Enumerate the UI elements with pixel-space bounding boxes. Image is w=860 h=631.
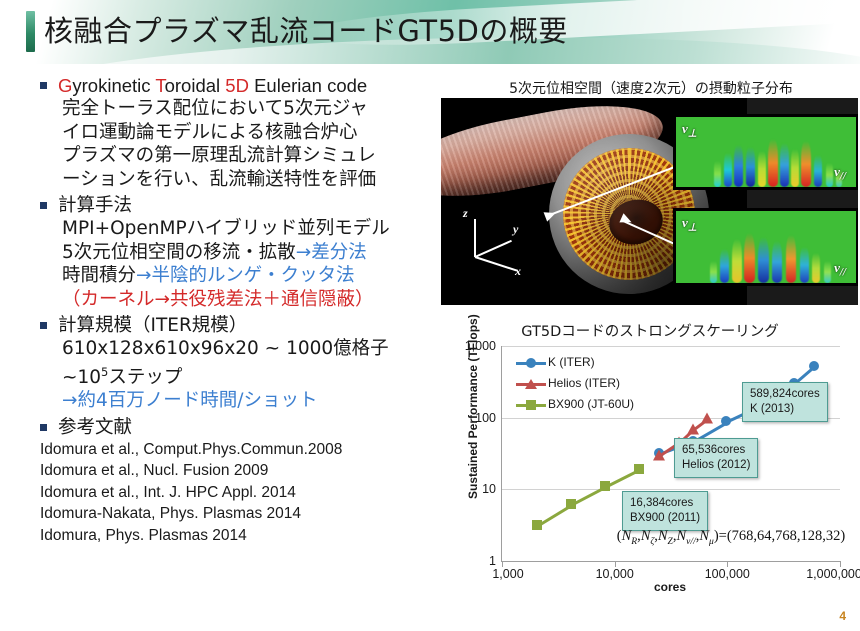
bullet-line: →約4百万ノード時間/ショット: [16, 389, 436, 413]
legend-label-helios: Helios (ITER): [548, 376, 620, 390]
inset-panel-upper: v⊥ v//: [673, 114, 858, 190]
chart-x-tick: 100,000: [705, 567, 750, 581]
bullet-line: 5次元位相空間の移流・拡散→差分法: [16, 241, 436, 265]
legend-marker-circle-icon: [526, 358, 536, 368]
bullet-block-references: 参考文献 Idomura et al., Comput.Phys.Commun.…: [16, 416, 436, 547]
reference-item: Idomura-Nakata, Phys. Plasmas 2014: [16, 503, 436, 525]
annotation-bx900[interactable]: 16,384cores BX900 (2011): [622, 491, 708, 531]
chart-y-tick: 10: [482, 482, 496, 496]
inset-stripe: [814, 155, 822, 187]
legend-item-k[interactable]: K (ITER): [514, 352, 634, 373]
inset-panel-lower: v⊥ v//: [673, 208, 858, 286]
bullet-heading-problem-size: 計算規模（ITER規模）: [58, 314, 436, 337]
reference-item: Idomura et al., Nucl. Fusion 2009: [16, 460, 436, 482]
line-seg: 5次元位相空間の移流・拡散: [62, 242, 296, 263]
bullet-line: 610x128x610x96x20 ~ 1000億格子: [16, 337, 436, 361]
legend-item-helios[interactable]: Helios (ITER): [514, 373, 634, 394]
visualization-caption: 5次元位相空間（速度2次元）の摂動粒子分布: [445, 78, 857, 98]
heading-seg: G: [58, 75, 72, 96]
annotation-line: 589,824cores: [750, 387, 820, 402]
bullet-marker-icon: [40, 82, 47, 89]
bullet-line: 時間積分→半陰的ルンゲ・クッタ法: [16, 264, 436, 288]
line-seg-highlight: →差分法: [296, 242, 367, 263]
annotation-k[interactable]: 589,824cores K (2013): [742, 382, 828, 422]
chart-data-point-square: [634, 464, 644, 474]
chart-data-point-triangle: [701, 413, 713, 424]
chart-data-point-triangle: [687, 423, 699, 434]
legend-marker-triangle-icon: [525, 379, 537, 389]
chart-x-tick: 1,000,000: [806, 567, 860, 581]
chart-gridline: [502, 346, 840, 347]
chart-data-point-circle: [721, 416, 731, 426]
content-bullets: Gyrokinetic Toroidal 5D Eulerian code 完全…: [16, 72, 436, 546]
bullet-block-numerical-method: 計算手法 MPI+OpenMPハイブリッド並列モデル 5次元位相空間の移流・拡散…: [16, 194, 436, 311]
bullet-marker-icon: [40, 424, 47, 431]
inset-stripe: [800, 247, 809, 283]
scaling-chart: GT5Dコードのストロングスケーリング Sustained Performanc…: [441, 316, 859, 616]
heading-seg: oroidal: [165, 75, 226, 96]
heading-seg: 5D: [225, 75, 249, 96]
inset-stripe: [772, 241, 782, 283]
inset-label-vperp: v⊥: [682, 215, 697, 234]
annotation-helios[interactable]: 65,536cores Helios (2012): [674, 438, 758, 478]
chart-legend: K (ITER) Helios (ITER) BX900 (JT-60U): [514, 352, 634, 415]
line-seg-highlight: →半陰的ルンゲ・クッタ法: [136, 265, 355, 286]
coordinate-axes-icon: z y x: [453, 204, 545, 290]
chart-plot-area: 1,000 100 10 1 1,000 10,000 100,000 1,00…: [501, 346, 840, 562]
inset-stripe: [824, 261, 831, 283]
legend-label-bx900: BX900 (JT-60U): [548, 397, 634, 411]
annotation-line: Helios (2012): [682, 458, 750, 473]
chart-x-tick: 1,000: [492, 567, 523, 581]
inset-stripe: [812, 253, 820, 283]
inset-stripe: [786, 235, 796, 283]
chart-y-tick: 1,000: [465, 339, 496, 353]
inset-stripe: [720, 249, 729, 283]
inset-stripe: [791, 149, 799, 187]
inset-stripe: [710, 261, 717, 283]
title-accent-bar: [26, 11, 35, 52]
chart-data-point-triangle: [653, 450, 665, 461]
chart-y-tick: 100: [475, 411, 496, 425]
heading-seg: yrokinetic: [72, 75, 155, 96]
bullet-heading-numerical-method: 計算手法: [58, 194, 436, 217]
bullet-line: （カーネル→共役残差法＋通信隠蔽）: [16, 288, 436, 312]
inset-label-vpara: v//: [834, 164, 846, 183]
chart-data-point-square: [600, 481, 610, 491]
axis-y-line: [475, 240, 512, 258]
references-heading: 参考文献: [58, 416, 436, 439]
page-title: 核融合プラズマ乱流コードGT5Dの概要: [44, 8, 568, 50]
bullet-marker-icon: [40, 202, 47, 209]
bullet-line: 完全トーラス配位において5次元ジャ: [16, 97, 436, 121]
chart-data-point-square: [532, 520, 542, 530]
bullet-line: MPI+OpenMPハイブリッド並列モデル: [16, 217, 436, 241]
bullet-line: ~105ステップ: [16, 361, 436, 390]
reference-item: Idomura et al., Int. J. HPC Appl. 2014: [16, 482, 436, 504]
heading-seg: Eulerian code: [249, 75, 367, 96]
bullet-line: イロ運動論モデルによる核融合炉心: [16, 121, 436, 145]
chart-x-tick: 10,000: [596, 567, 634, 581]
inset-stripe: [744, 233, 755, 283]
inset-stripe: [758, 151, 766, 187]
line-seg: ステップ: [108, 367, 182, 388]
axis-x-line: [475, 256, 517, 271]
bullet-line: プラズマの第一原理乱流計算シミュレ: [16, 144, 436, 168]
inset-stripe: [714, 161, 721, 187]
reference-item: Idomura et al., Comput.Phys.Commun.2008: [16, 439, 436, 461]
bullet-heading-code-overview: Gyrokinetic Toroidal 5D Eulerian code: [58, 74, 436, 97]
bullet-block-code-overview: Gyrokinetic Toroidal 5D Eulerian code 完全…: [16, 74, 436, 191]
annotation-line: 65,536cores: [682, 443, 750, 458]
inset-stripe: [826, 163, 833, 187]
chart-title: GT5Dコードのストロングスケーリング: [441, 320, 859, 341]
line-seg: 時間積分: [62, 265, 136, 286]
inset-label-vpara: v//: [834, 260, 846, 279]
inset-stripe: [724, 153, 732, 187]
inset-field-lower: v⊥ v//: [676, 211, 856, 283]
chart-data-point-square: [566, 499, 576, 509]
bullet-item-code-overview: Gyrokinetic Toroidal 5D Eulerian code: [16, 74, 436, 97]
inset-label-vperp: v⊥: [682, 121, 697, 140]
axis-label-z: z: [463, 206, 468, 221]
page-number: 4: [839, 609, 846, 623]
chart-x-axis-label: cores: [501, 580, 839, 594]
inset-stripe: [734, 145, 743, 187]
bullet-line: ーションを行い、乱流輸送特性を評価: [16, 168, 436, 192]
legend-item-bx900[interactable]: BX900 (JT-60U): [514, 394, 634, 415]
inset-stripe: [758, 237, 769, 283]
inset-stripe: [801, 141, 811, 187]
bullet-item-numerical-method: 計算手法: [16, 194, 436, 217]
grid-size-formula: (NR,Nζ,NZ,Nv//,Nμ)=(768,64,768,128,32): [562, 528, 860, 547]
heading-seg: T: [155, 75, 164, 96]
legend-marker-square-icon: [526, 400, 536, 410]
axis-label-y: y: [513, 222, 518, 237]
slide-header: 核融合プラズマ乱流コードGT5Dの概要: [0, 0, 860, 64]
axis-label-x: x: [515, 264, 521, 279]
line-seg: MPI+OpenMPハイブリッド並列モデル: [62, 218, 390, 239]
chart-y-tick: 1: [489, 554, 496, 568]
inset-field-upper: v⊥ v//: [676, 117, 856, 187]
bullet-marker-icon: [40, 322, 47, 329]
bullet-item-references: 参考文献: [16, 416, 436, 439]
annotation-line: K (2013): [750, 402, 820, 417]
reference-item: Idomura, Phys. Plasmas 2014: [16, 525, 436, 547]
inset-stripe: [780, 143, 789, 187]
inset-stripe: [746, 147, 755, 187]
plasma-visualization-image: z y x v⊥ v// v⊥ v//: [441, 98, 858, 305]
axis-z-line: [474, 219, 476, 257]
bullet-item-problem-size: 計算規模（ITER規模）: [16, 314, 436, 337]
chart-data-point-circle: [809, 361, 819, 371]
annotation-line: BX900 (2011): [630, 511, 700, 526]
inset-stripe: [768, 139, 778, 187]
inset-stripe: [732, 239, 742, 283]
bullet-block-problem-size: 計算規模（ITER規模） 610x128x610x96x20 ~ 1000億格子…: [16, 314, 436, 413]
legend-label-k: K (ITER): [548, 355, 595, 369]
line-seg: ~10: [62, 367, 101, 388]
annotation-line: 16,384cores: [630, 496, 700, 511]
